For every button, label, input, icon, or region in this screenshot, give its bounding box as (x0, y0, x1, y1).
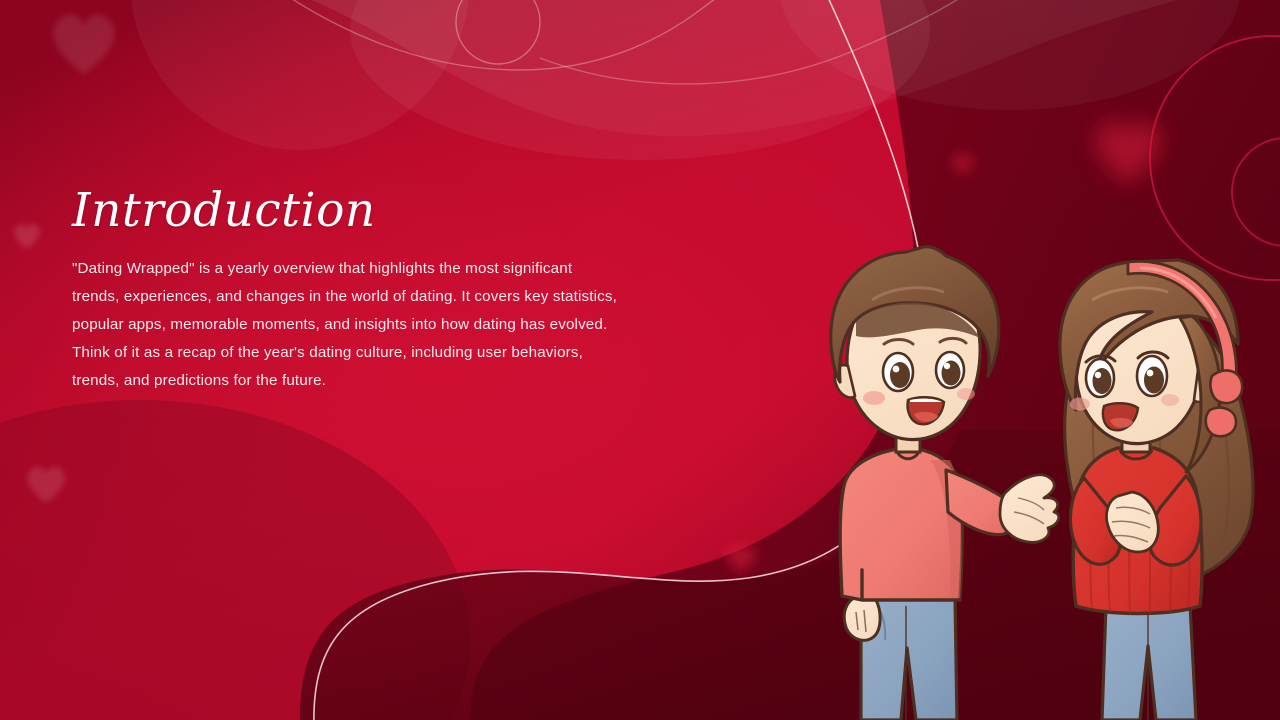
girl-right-cheek (1161, 394, 1179, 406)
girl-jeans (1102, 604, 1196, 720)
girl-left-cheek (1070, 398, 1090, 411)
boy-right-cheek (957, 388, 975, 400)
slide-canvas: Introduction "Dating Wrapped" is a yearl… (0, 0, 1280, 720)
girl-right-pupil (1144, 367, 1164, 394)
girl-hair-bow (1210, 370, 1242, 403)
girl-left-pupil (1093, 368, 1112, 394)
boy-left-cheek (863, 391, 885, 405)
boy-right-hand (1000, 475, 1059, 542)
boy-figure (831, 247, 1059, 720)
boy-left-hand (844, 596, 880, 640)
girl-figure (1060, 260, 1253, 720)
intro-text-block: Introduction "Dating Wrapped" is a yearl… (72, 186, 632, 395)
girl-left-eye-glint (1095, 372, 1101, 378)
girl-hair-bow-lower (1206, 408, 1236, 437)
boy-right-eye-glint (944, 363, 950, 369)
intro-paragraph: "Dating Wrapped" is a yearly overview th… (72, 255, 617, 395)
boy-left-eye-glint (893, 366, 900, 373)
boy-left-pupil (890, 362, 910, 388)
girl-right-eye-glint (1147, 370, 1154, 377)
page-title: Introduction (72, 186, 632, 235)
